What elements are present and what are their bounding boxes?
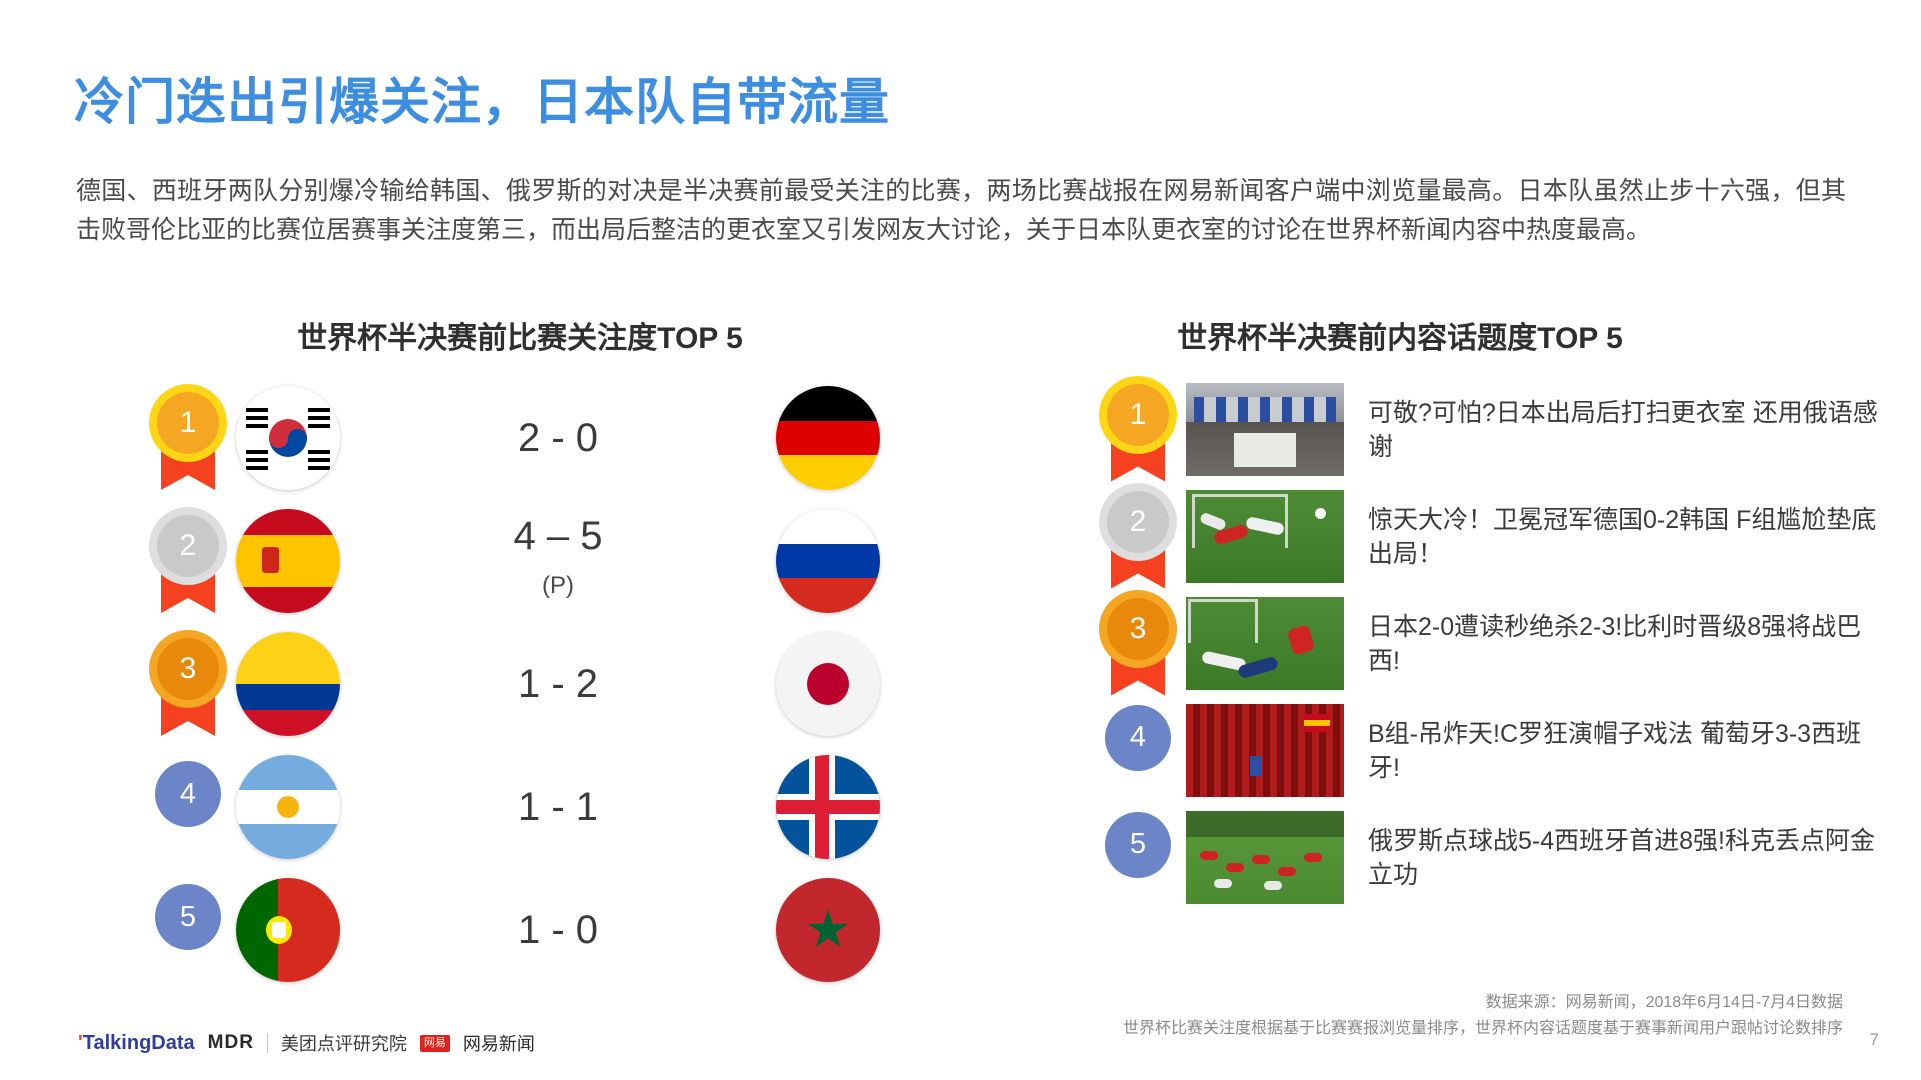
- left-section-title: 世界杯半决赛前比赛关注度TOP 5: [180, 313, 860, 357]
- netease-badge-icon: 网易: [420, 1035, 450, 1052]
- rank-badge-3: 3: [1090, 594, 1186, 694]
- rank-badge-5: 5: [140, 880, 236, 980]
- right-section-title: 世界杯半决赛前内容话题度TOP 5: [1020, 313, 1780, 357]
- slide: 冷门迭出引爆关注，日本队自带流量 德国、西班牙两队分别爆冷输给韩国、俄罗斯的对决…: [0, 0, 1921, 1080]
- rank-badge-1: 1: [140, 388, 236, 488]
- rank-number: 4: [155, 761, 221, 827]
- score-text: 1 - 1: [518, 785, 598, 829]
- list-item[interactable]: 2 惊天大冷！卫冕冠军德国0-2韩国 F组尴尬垫底出局！: [1090, 485, 1890, 588]
- list-item[interactable]: 4 B组-吊炸天!C罗狂演帽子戏法 葡萄牙3-3西班牙!: [1090, 699, 1890, 802]
- rank-number: 2: [1107, 491, 1169, 553]
- page-number: 7: [1870, 1030, 1879, 1050]
- flag-korea-icon: [236, 386, 340, 490]
- source-line-1: 数据来源：网易新闻，2018年6月14日-7月4日数据: [1123, 990, 1843, 1016]
- table-row[interactable]: 4 1 - 1: [140, 747, 880, 867]
- goalmouth-photo[interactable]: [1186, 490, 1344, 583]
- rank-badge-5: 5: [1090, 808, 1186, 908]
- table-row[interactable]: 5 1 - 0 ★: [140, 870, 880, 990]
- rank-number: 3: [1107, 598, 1169, 660]
- page-title: 冷门迭出引爆关注，日本队自带流量: [74, 62, 890, 134]
- rank-number: 4: [1105, 705, 1171, 771]
- list-item[interactable]: 5 俄罗斯点球战5-4西班牙首进8强!科克丢点阿金立功: [1090, 806, 1890, 909]
- rank-number: 1: [1107, 384, 1169, 446]
- flag-morocco-icon: ★: [776, 878, 880, 982]
- flag-colombia-icon: [236, 632, 340, 736]
- source-line-2: 世界杯比赛关注度根据基于比赛赛报浏览量排序，世界杯内容话题度基于赛事新闻用户跟帖…: [1123, 1016, 1843, 1042]
- logo-divider: [267, 1033, 268, 1053]
- news-headline[interactable]: 可敬?可怕?日本出局后打扫更衣室 还用俄语感谢: [1368, 396, 1890, 464]
- mdr-logo: MDR: [208, 1032, 254, 1054]
- table-row[interactable]: 1 2 - 0: [140, 378, 880, 498]
- news-headline[interactable]: 惊天大冷！卫冕冠军德国0-2韩国 F组尴尬垫底出局！: [1368, 503, 1890, 571]
- rank-number: 5: [1105, 812, 1171, 878]
- flag-spain-icon: [236, 509, 340, 613]
- score-text: 1 - 2: [518, 662, 598, 706]
- table-row[interactable]: 2 4 – 5 (P): [140, 501, 880, 621]
- netease-news-logo: 网易新闻: [463, 1030, 535, 1056]
- score-text: 4 – 5: [514, 514, 603, 558]
- penalty-note: (P): [340, 562, 776, 610]
- meituan-research-logo: 美团点评研究院: [281, 1030, 407, 1056]
- news-headline[interactable]: 日本2-0遭读秒绝杀2-3!比利时晋级8强将战巴西!: [1368, 610, 1890, 678]
- crowd-photo[interactable]: [1186, 704, 1344, 797]
- flag-russia-icon: [776, 509, 880, 613]
- news-headline[interactable]: B组-吊炸天!C罗狂演帽子戏法 葡萄牙3-3西班牙!: [1368, 717, 1890, 785]
- rank-badge-2: 2: [1090, 487, 1186, 587]
- list-item[interactable]: 3 日本2-0遭读秒绝杀2-3!比利时晋级8强将战巴西!: [1090, 592, 1890, 695]
- rank-number: 1: [157, 392, 219, 454]
- flag-argentina-icon: [236, 755, 340, 859]
- celebration-photo[interactable]: [1186, 811, 1344, 904]
- match-score: 1 - 2: [340, 660, 776, 708]
- list-item[interactable]: 1 可敬?可怕?日本出局后打扫更衣室 还用俄语感谢: [1090, 378, 1890, 481]
- news-headline[interactable]: 俄罗斯点球战5-4西班牙首进8强!科克丢点阿金立功: [1368, 824, 1890, 892]
- news-ranking-list: 1 可敬?可怕?日本出局后打扫更衣室 还用俄语感谢 2 惊天大冷！卫冕冠军德国0…: [1090, 378, 1890, 913]
- flag-portugal-icon: [236, 878, 340, 982]
- rank-number: 3: [157, 638, 219, 700]
- source-note: 数据来源：网易新闻，2018年6月14日-7月4日数据 世界杯比赛关注度根据基于…: [1123, 990, 1843, 1042]
- match-ranking-list: 1 2 - 0: [140, 378, 880, 993]
- intro-paragraph: 德国、西班牙两队分别爆冷输给韩国、俄罗斯的对决是半决赛前最受关注的比赛，两场比赛…: [76, 172, 1846, 250]
- flag-germany-icon: [776, 386, 880, 490]
- rank-badge-1: 1: [1090, 380, 1186, 480]
- talkingdata-logo: 'TalkingData: [78, 1032, 195, 1055]
- table-row[interactable]: 3 1 - 2: [140, 624, 880, 744]
- footer-logos: 'TalkingData MDR 美团点评研究院 网易 网易新闻: [78, 1030, 535, 1056]
- rank-badge-4: 4: [1090, 701, 1186, 801]
- rank-badge-3: 3: [140, 634, 236, 734]
- lockerroom-photo[interactable]: [1186, 383, 1344, 476]
- rank-number: 2: [157, 515, 219, 577]
- score-text: 1 - 0: [518, 908, 598, 952]
- pitch-photo[interactable]: [1186, 597, 1344, 690]
- match-score: 1 - 1: [340, 783, 776, 831]
- flag-japan-icon: [776, 632, 880, 736]
- match-score: 1 - 0: [340, 906, 776, 954]
- rank-number: 5: [155, 884, 221, 950]
- flag-iceland-icon: [776, 755, 880, 859]
- match-score: 2 - 0: [340, 414, 776, 462]
- rank-badge-4: 4: [140, 757, 236, 857]
- talkingdata-label: TalkingData: [83, 1032, 195, 1054]
- score-text: 2 - 0: [518, 416, 598, 460]
- rank-badge-2: 2: [140, 511, 236, 611]
- match-score: 4 – 5 (P): [340, 512, 776, 610]
